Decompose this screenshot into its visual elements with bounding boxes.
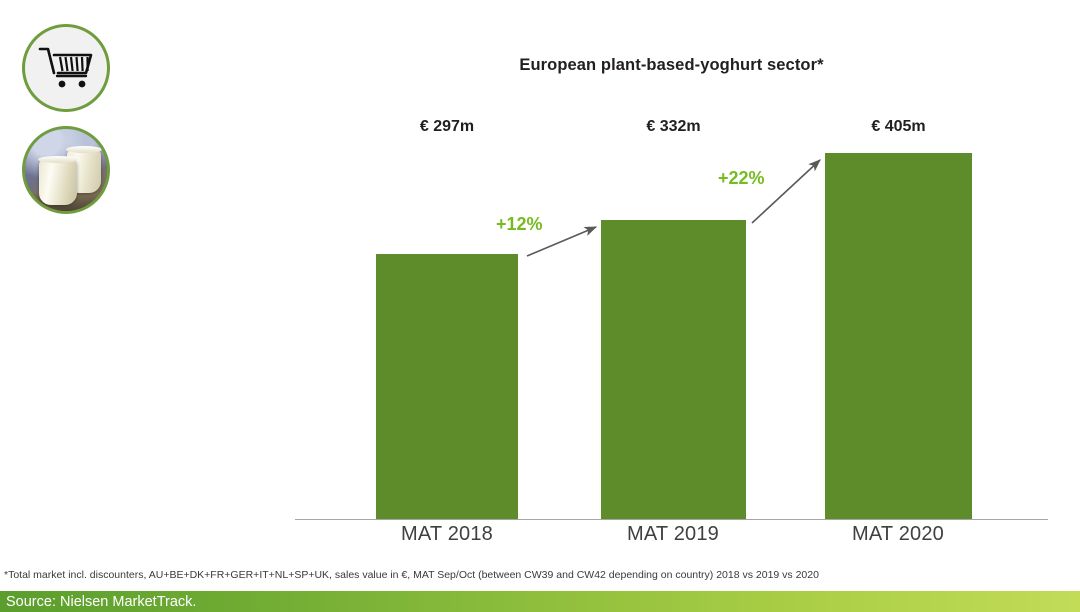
x-axis-label-mat-2019: MAT 2019 (588, 523, 758, 546)
growth-arrows (0, 0, 1080, 560)
bar-chart: European plant-based-yoghurt sector* € 2… (0, 0, 1080, 560)
source-text: Source: Nielsen MarketTrack. (6, 594, 196, 610)
growth-label-2019-2020: +22% (718, 168, 765, 189)
x-axis-line (295, 519, 1048, 520)
x-axis-label-mat-2020: MAT 2020 (813, 523, 983, 546)
chart-footnote: *Total market incl. discounters, AU+BE+D… (4, 569, 1004, 581)
source-bar: Source: Nielsen MarketTrack. (0, 591, 1080, 612)
x-axis-label-mat-2018: MAT 2018 (362, 523, 532, 546)
growth-label-2018-2019: +12% (496, 214, 543, 235)
